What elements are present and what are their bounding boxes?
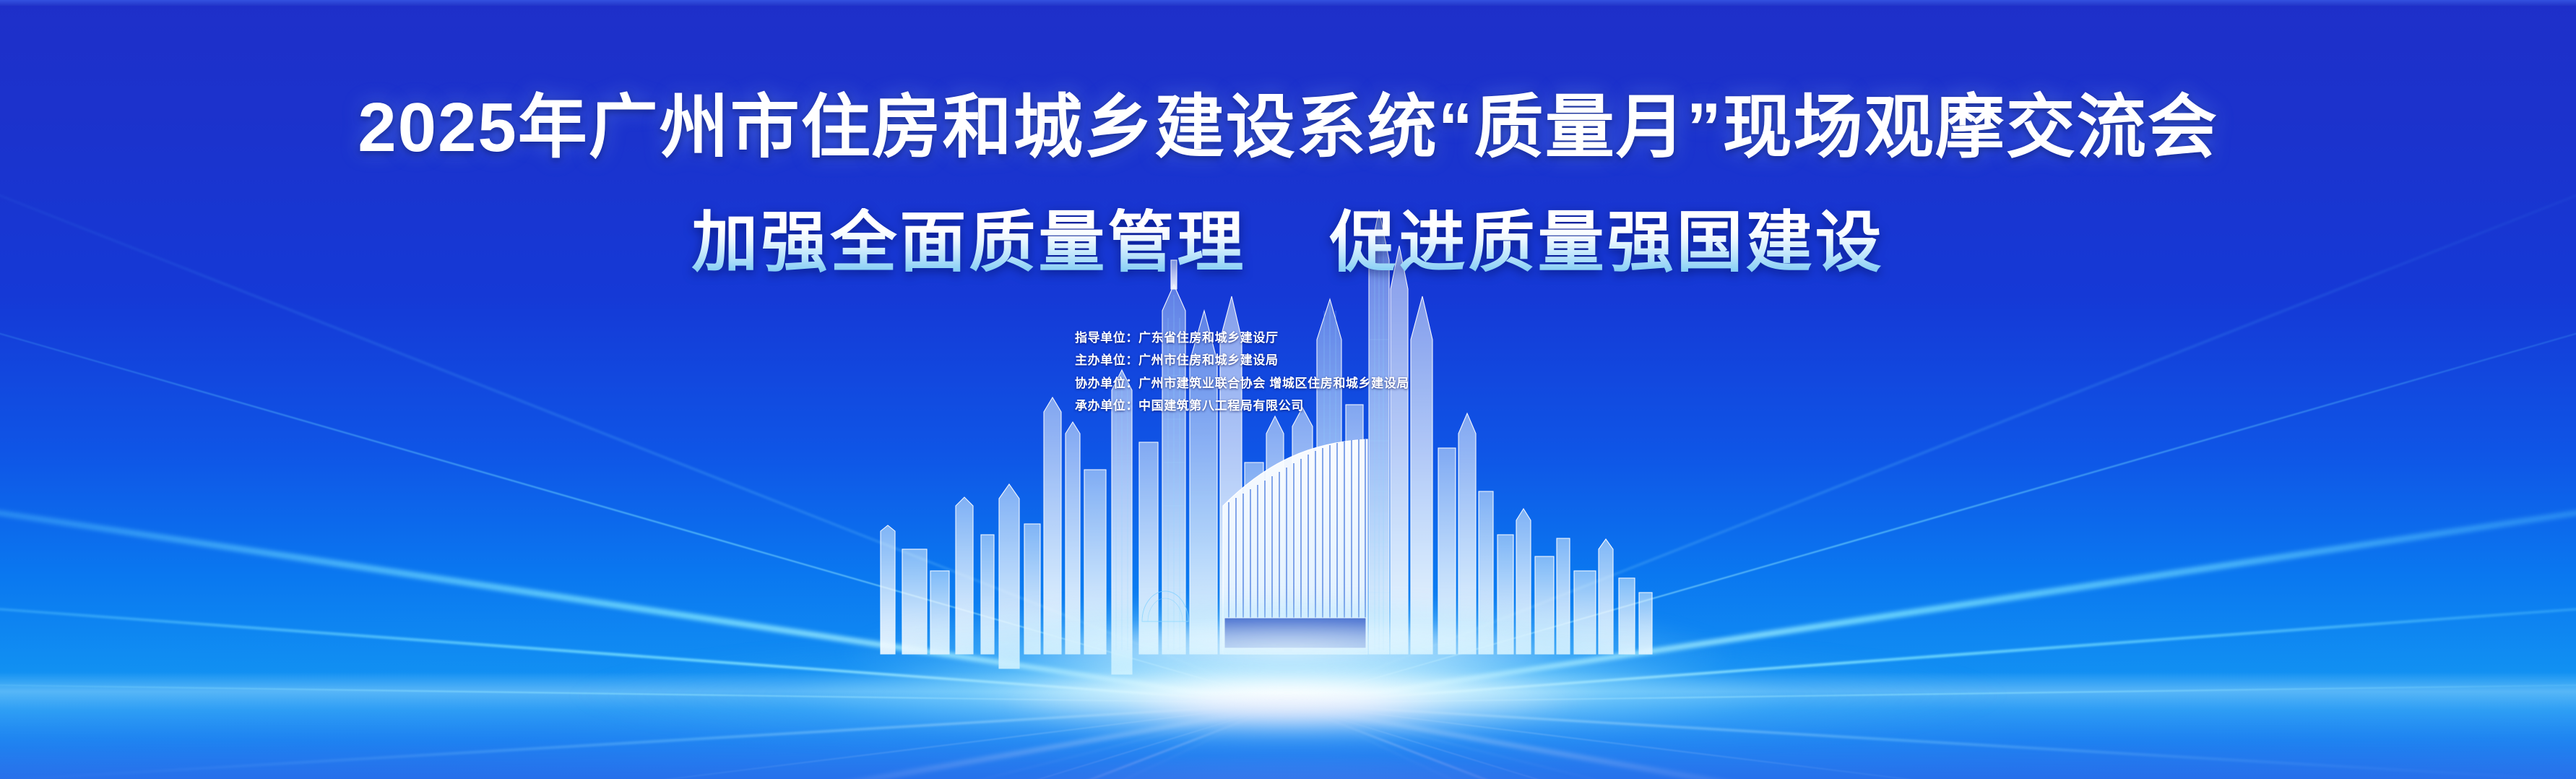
poster-canvas: 2025年广州市住房和城乡建设系统“质量月”现场观摩交流会 加强全面质量管理 促… (0, 0, 2576, 779)
page-subtitle: 加强全面质量管理 促进质量强国建设 (0, 208, 2576, 278)
organizer-value: 广州市建筑业联合协会 增城区住房和城乡建设局 (1138, 372, 1409, 395)
subtitle-phrase-left: 加强全面质量管理 (691, 206, 1246, 280)
organizer-label: 协办单位： (1075, 372, 1138, 395)
organizer-value: 广州市住房和城乡建设局 (1138, 349, 1279, 371)
list-item: 承办单位：中国建筑第八工程局有限公司 (1075, 395, 1409, 417)
organizer-value: 中国建筑第八工程局有限公司 (1138, 395, 1304, 417)
organizer-credits: 指导单位：广东省住房和城乡建设厅 主办单位：广州市住房和城乡建设局 协办单位：广… (1075, 327, 1409, 418)
organizer-value: 广东省住房和城乡建设厅 (1138, 327, 1279, 349)
organizer-label: 承办单位： (1075, 395, 1138, 417)
list-item: 协办单位：广州市建筑业联合协会 增城区住房和城乡建设局 (1075, 372, 1409, 395)
subtitle-phrase-right: 促进质量强国建设 (1330, 206, 1885, 280)
organizer-label: 指导单位： (1075, 327, 1138, 349)
list-item: 指导单位：广东省住房和城乡建设厅 (1075, 327, 1409, 349)
organizer-label: 主办单位： (1075, 349, 1138, 371)
list-item: 主办单位：广州市住房和城乡建设局 (1075, 349, 1409, 371)
page-title: 2025年广州市住房和城乡建设系统“质量月”现场观摩交流会 (0, 92, 2576, 163)
bottom-sheen (0, 692, 2576, 779)
